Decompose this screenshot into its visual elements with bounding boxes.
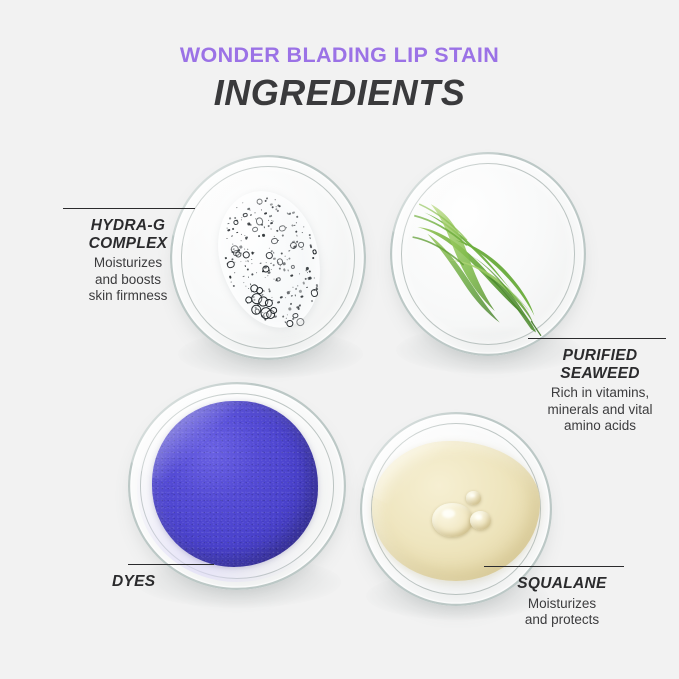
gel-bubble bbox=[232, 228, 234, 230]
gel-bubble bbox=[280, 296, 283, 299]
gel-bubble bbox=[296, 215, 298, 217]
gel-bubble bbox=[292, 211, 295, 214]
callout-dyes: DYES bbox=[112, 564, 252, 591]
leader-line bbox=[484, 566, 624, 567]
gel-bubble-cluster bbox=[269, 306, 278, 315]
oil-droplet-small bbox=[466, 491, 481, 504]
gel-bubble bbox=[247, 260, 249, 262]
gel-bubble-cluster bbox=[256, 286, 265, 295]
gel-bubble bbox=[245, 236, 248, 239]
gel-bubble bbox=[288, 257, 291, 260]
gel-bubble bbox=[234, 272, 235, 273]
gel-bubble bbox=[310, 245, 313, 248]
ingredient-name: DYES bbox=[112, 573, 252, 591]
desc-line2: and boosts bbox=[58, 272, 198, 288]
ingredient-name-line1: SQUALANE bbox=[482, 575, 642, 593]
gel-bubble bbox=[228, 223, 230, 225]
gel-bubble bbox=[244, 265, 246, 267]
gel-bubble bbox=[293, 286, 294, 287]
gel-bubble bbox=[231, 281, 232, 282]
gel-bubble bbox=[271, 297, 272, 298]
gel-bubble bbox=[232, 284, 234, 286]
gel-bubble-ring bbox=[252, 226, 259, 233]
gel-bubble bbox=[308, 234, 311, 237]
gel-bubble bbox=[290, 274, 293, 277]
gel-bubble bbox=[296, 305, 299, 308]
gel-bubble bbox=[281, 315, 284, 318]
petri-dish-purified-seaweed bbox=[390, 152, 586, 356]
gel-bubble bbox=[271, 228, 272, 229]
gel-blob-ingredient bbox=[204, 179, 337, 340]
gel-bubble bbox=[273, 278, 274, 279]
gel-bubble bbox=[285, 297, 286, 298]
gel-bubble bbox=[265, 262, 267, 264]
gel-bubble bbox=[267, 225, 269, 227]
gel-bubble-ring bbox=[271, 237, 279, 245]
callout-purified-seaweed: PURIFIED SEAWEED Rich in vitamins, miner… bbox=[528, 338, 672, 435]
desc-line2: and protects bbox=[482, 612, 642, 628]
gel-bubble bbox=[243, 275, 244, 276]
gel-bubble bbox=[271, 219, 272, 220]
gel-bubble bbox=[307, 277, 310, 280]
gel-bubble bbox=[267, 275, 268, 276]
gel-bubble bbox=[297, 285, 299, 287]
gel-bubble bbox=[294, 294, 296, 296]
gel-bubble bbox=[271, 206, 274, 209]
gel-bubble bbox=[306, 287, 307, 288]
gel-bubble bbox=[251, 258, 253, 260]
seaweed-strands-graphic bbox=[406, 176, 571, 339]
petri-dish-dyes bbox=[128, 382, 346, 590]
gel-bubble bbox=[268, 248, 269, 249]
gel-bubble bbox=[286, 259, 287, 260]
gel-bubble bbox=[236, 232, 238, 234]
desc-line1: Moisturizes bbox=[58, 255, 198, 271]
gel-bubble bbox=[273, 252, 275, 254]
gel-bubble-ring bbox=[242, 251, 250, 259]
gel-bubble bbox=[225, 257, 226, 258]
desc-line1: Moisturizes bbox=[482, 596, 642, 612]
gel-bubble bbox=[295, 222, 297, 224]
gel-bubble bbox=[257, 235, 260, 238]
gel-bubble bbox=[270, 269, 272, 271]
gel-bubble bbox=[272, 264, 274, 266]
desc-line3: skin firmness bbox=[58, 288, 198, 304]
ingredient-name-line2: COMPLEX bbox=[58, 235, 198, 253]
gel-bubble bbox=[255, 212, 256, 213]
gel-bubble bbox=[269, 215, 271, 217]
gel-bubble bbox=[311, 300, 313, 302]
gel-bubble bbox=[268, 219, 269, 220]
gel-bubble-ring bbox=[297, 241, 305, 249]
gel-bubble bbox=[287, 269, 289, 271]
gel-bubble bbox=[299, 273, 301, 275]
gel-bubble bbox=[271, 222, 273, 224]
gel-bubble bbox=[264, 276, 265, 277]
oil-droplet-medium bbox=[470, 511, 492, 531]
gel-bubble-ring bbox=[310, 288, 319, 297]
gel-bubble bbox=[265, 197, 268, 200]
gel-bubble bbox=[288, 307, 291, 310]
oil-pool-ingredient bbox=[372, 441, 541, 581]
gel-bubble bbox=[229, 217, 231, 219]
desc-line1: Rich in vitamins, bbox=[528, 385, 672, 401]
gel-bubble bbox=[274, 199, 276, 201]
gel-bubble bbox=[236, 207, 237, 208]
gel-bubble bbox=[247, 249, 248, 250]
gel-bubble bbox=[300, 295, 303, 298]
gel-bubble bbox=[227, 227, 228, 228]
gel-bubble bbox=[245, 286, 246, 287]
gel-bubble bbox=[299, 289, 302, 292]
gel-bubble bbox=[302, 281, 305, 284]
gel-bubble bbox=[244, 248, 245, 249]
gel-bubble bbox=[260, 209, 261, 210]
desc-line3: amino acids bbox=[528, 418, 672, 434]
gel-bubble bbox=[294, 230, 297, 233]
leader-line bbox=[63, 208, 195, 209]
gel-bubble bbox=[231, 235, 233, 237]
gel-bubble bbox=[242, 202, 243, 203]
ingredient-name: PURIFIED SEAWEED bbox=[528, 347, 672, 382]
gel-bubble bbox=[289, 290, 290, 291]
gel-bubble bbox=[252, 252, 254, 254]
gel-bubble bbox=[284, 256, 285, 257]
gel-bubble-ring bbox=[256, 198, 264, 206]
gel-bubble bbox=[239, 245, 242, 248]
gel-bubble bbox=[264, 199, 267, 202]
gel-bubble-ring bbox=[278, 224, 286, 232]
gel-bubble bbox=[243, 281, 244, 282]
callout-squalane: SQUALANE Moisturizes and protects bbox=[482, 566, 642, 629]
callout-hydra-g-complex: HYDRA-G COMPLEX Moisturizes and boosts s… bbox=[58, 208, 198, 305]
ingredient-description: Moisturizes and boosts skin firmness bbox=[58, 255, 198, 304]
blue-powder-ingredient bbox=[152, 401, 318, 567]
gel-bubble bbox=[306, 272, 308, 274]
gel-bubble bbox=[305, 269, 308, 272]
ingredient-name-line2: SEAWEED bbox=[528, 365, 672, 383]
petri-dish-hydra-g-complex bbox=[170, 155, 366, 360]
gel-bubble bbox=[302, 231, 303, 232]
ingredient-name-line1: PURIFIED bbox=[528, 347, 672, 365]
gel-bubble bbox=[283, 268, 286, 271]
gel-bubble bbox=[245, 261, 246, 262]
gel-bubble bbox=[249, 209, 251, 211]
gel-bubble bbox=[260, 262, 262, 264]
gel-bubble bbox=[278, 267, 281, 270]
page-title: INGREDIENTS bbox=[0, 72, 679, 114]
gel-bubble bbox=[288, 250, 290, 252]
ingredient-description: Moisturizes and protects bbox=[482, 596, 642, 629]
gel-bubble bbox=[286, 314, 287, 315]
desc-line2: minerals and vital bbox=[528, 402, 672, 418]
gel-bubble bbox=[302, 226, 304, 228]
gel-bubble-ring bbox=[242, 212, 248, 218]
ingredient-name-line1: HYDRA-G bbox=[58, 217, 198, 235]
gel-bubble bbox=[294, 287, 297, 290]
gel-bubble bbox=[285, 317, 286, 318]
gel-bubble bbox=[289, 303, 291, 305]
gel-bubble bbox=[312, 256, 314, 258]
leader-line bbox=[528, 338, 666, 339]
gel-bubble bbox=[250, 214, 252, 216]
gel-bubble bbox=[240, 261, 241, 262]
brand-title: WONDER BLADING LIP STAIN bbox=[0, 43, 679, 68]
gel-bubble bbox=[251, 273, 253, 275]
gel-bubble bbox=[233, 216, 236, 219]
gel-bubble bbox=[288, 212, 291, 215]
gel-bubble bbox=[226, 238, 227, 239]
gel-bubble-ring bbox=[233, 220, 239, 226]
gel-bubble bbox=[276, 210, 279, 213]
gel-bubble bbox=[291, 224, 294, 227]
gel-bubble bbox=[256, 272, 257, 273]
powder-grain-texture bbox=[152, 401, 318, 567]
gel-bubble bbox=[241, 233, 243, 235]
gel-bubble bbox=[263, 227, 264, 228]
gel-bubble bbox=[273, 257, 276, 260]
gel-bubble bbox=[291, 295, 293, 297]
gel-bubble bbox=[248, 276, 249, 277]
ingredients-infographic: WONDER BLADING LIP STAIN INGREDIENTS bbox=[0, 0, 679, 679]
gel-bubble bbox=[240, 240, 241, 241]
gel-bubble bbox=[282, 234, 284, 236]
gel-bubble bbox=[249, 223, 251, 225]
gel-bubble bbox=[241, 217, 242, 218]
gel-bubble bbox=[248, 287, 249, 288]
leader-line bbox=[128, 564, 214, 565]
gel-bubble bbox=[264, 212, 267, 215]
ingredient-name: HYDRA-G COMPLEX bbox=[58, 217, 198, 252]
gel-bubble bbox=[241, 219, 242, 220]
ingredient-description: Rich in vitamins, minerals and vital ami… bbox=[528, 385, 672, 434]
gel-bubble-ring bbox=[295, 317, 305, 327]
gel-bubble bbox=[280, 252, 283, 255]
oil-droplet-large bbox=[432, 503, 473, 538]
gel-bubble bbox=[251, 263, 252, 264]
gel-bubble-ring bbox=[285, 319, 293, 327]
gel-bubble bbox=[277, 204, 279, 206]
gel-bubble bbox=[313, 277, 314, 278]
gel-bubble bbox=[277, 301, 280, 304]
gel-bubble-ring bbox=[290, 264, 296, 270]
ingredient-name: SQUALANE bbox=[482, 575, 642, 593]
gel-bubble bbox=[301, 248, 303, 250]
gel-bubble bbox=[309, 237, 311, 239]
gel-bubble-ring bbox=[275, 276, 281, 282]
gel-bubble bbox=[309, 270, 311, 272]
gel-bubble bbox=[296, 235, 298, 237]
ingredient-name-line1: DYES bbox=[112, 573, 252, 591]
gel-bubble-ring bbox=[312, 249, 318, 255]
gel-bubble bbox=[262, 234, 265, 237]
gel-bubble bbox=[247, 268, 249, 270]
gel-bubble bbox=[227, 228, 230, 231]
